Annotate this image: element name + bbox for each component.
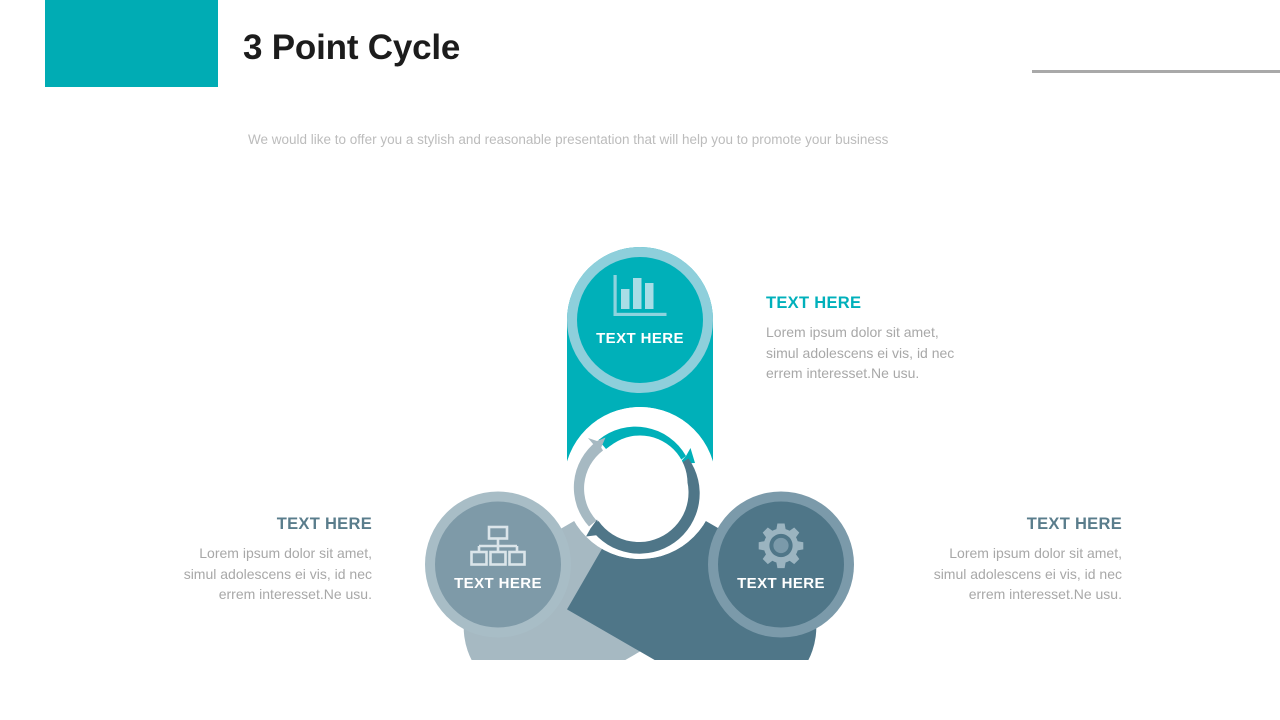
callout-right: TEXT HERE Lorem ipsum dolor sit amet, si… bbox=[900, 515, 1122, 605]
node-br-label: TEXT HERE bbox=[737, 575, 825, 592]
node-top-circle bbox=[577, 257, 703, 383]
callout-right-title: TEXT HERE bbox=[900, 515, 1122, 534]
callout-top-right-title: TEXT HERE bbox=[766, 294, 996, 313]
page-title: 3 Point Cycle bbox=[243, 28, 460, 68]
cycle-ring-group bbox=[564, 407, 716, 559]
callout-left-body: Lorem ipsum dolor sit amet, simul adoles… bbox=[140, 543, 372, 605]
node-top-label: TEXT HERE bbox=[596, 330, 684, 347]
header-divider-rule bbox=[1032, 70, 1280, 73]
node-bl-label: TEXT HERE bbox=[454, 575, 542, 592]
page-subtitle: We would like to offer you a stylish and… bbox=[248, 132, 888, 147]
header-accent-block bbox=[45, 0, 218, 87]
callout-left: TEXT HERE Lorem ipsum dolor sit amet, si… bbox=[140, 515, 372, 605]
callout-top-right: TEXT HERE Lorem ipsum dolor sit amet, si… bbox=[766, 294, 996, 384]
callout-left-title: TEXT HERE bbox=[140, 515, 372, 534]
callout-right-body: Lorem ipsum dolor sit amet, simul adoles… bbox=[900, 543, 1122, 605]
cycle-node-bottom-left[interactable]: TEXT HERE bbox=[425, 492, 571, 638]
cycle-node-top[interactable]: TEXT HERE bbox=[567, 247, 713, 393]
gear-icon bbox=[759, 524, 804, 569]
cycle-node-bottom-right[interactable]: TEXT HERE bbox=[708, 492, 854, 638]
callout-top-right-body: Lorem ipsum dolor sit amet, simul adoles… bbox=[766, 322, 996, 384]
